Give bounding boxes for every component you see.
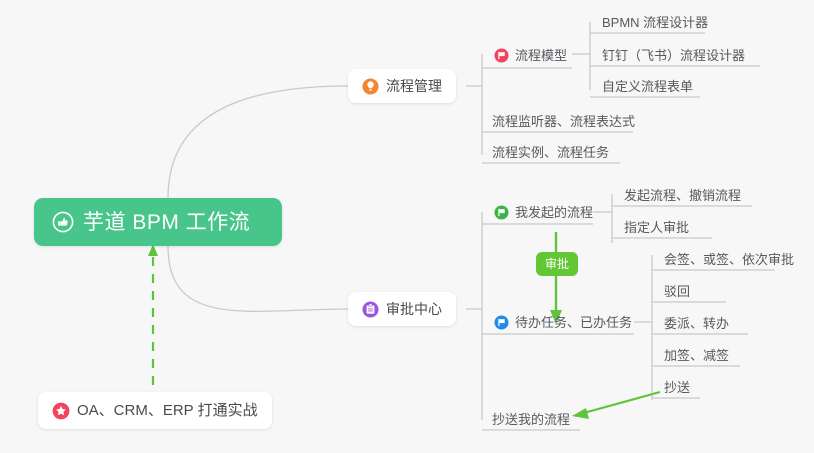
node-label: 指定人审批 [624,221,689,234]
node-process-model[interactable]: 流程模型 [492,42,571,68]
root-label: 芋道 BPM 工作流 [83,212,250,233]
node-todo-done-tasks[interactable]: 待办任务、已办任务 [492,309,636,335]
node-label: 流程监听器、流程表达式 [492,115,635,128]
node-bpmn-designer[interactable]: BPMN 流程设计器 [600,9,712,35]
node-custom-process-form[interactable]: 自定义流程表单 [600,73,697,99]
node-label: 我发起的流程 [515,206,593,219]
node-label: BPMN 流程设计器 [602,16,708,29]
node-label: 钉钉（飞书）流程设计器 [602,49,745,62]
node-reject[interactable]: 驳回 [662,278,694,304]
node-designated-approver[interactable]: 指定人审批 [622,214,693,240]
node-label: 抄送我的流程 [492,413,570,426]
thumbs-up-icon [52,211,74,233]
branch-label: 审批中心 [386,302,442,316]
node-process-instance-task[interactable]: 流程实例、流程任务 [490,139,613,165]
node-label: 流程模型 [515,49,567,62]
footnote-label: OA、CRM、ERP 打通实战 [77,403,258,418]
approval-badge[interactable]: 审批 [536,252,578,276]
footnote-node[interactable]: OA、CRM、ERP 打通实战 [38,392,272,429]
node-dingtalk-feishu-designer[interactable]: 钉钉（飞书）流程设计器 [600,42,749,68]
node-label: 抄送 [664,381,690,394]
clipboard-icon [362,301,379,318]
flag-icon [494,315,509,330]
branch-approval-center[interactable]: 审批中心 [348,292,456,326]
mindmap-canvas: 芋道 BPM 工作流 流程管理 流程模型 BPMN 流程设计器 钉钉（飞书）流程 [0,0,814,453]
node-start-cancel-process[interactable]: 发起流程、撤销流程 [622,182,745,208]
node-add-remove-sign[interactable]: 加签、减签 [662,342,733,368]
node-my-initiated-process[interactable]: 我发起的流程 [492,199,597,225]
flag-icon [494,205,509,220]
node-process-listener-expression[interactable]: 流程监听器、流程表达式 [490,108,639,134]
node-delegate-transfer[interactable]: 委派、转办 [662,310,733,336]
branch-label: 流程管理 [386,79,442,93]
node-label: 委派、转办 [664,317,729,330]
star-icon [52,402,70,420]
node-label: 自定义流程表单 [602,80,693,93]
node-label: 待办任务、已办任务 [515,316,632,329]
node-label: 驳回 [664,285,690,298]
node-label: 流程实例、流程任务 [492,146,609,159]
lightbulb-icon [362,78,379,95]
node-countersign-orsign-sequential[interactable]: 会签、或签、依次审批 [662,246,798,272]
node-label: 发起流程、撤销流程 [624,189,741,202]
node-label: 加签、减签 [664,349,729,362]
root-node[interactable]: 芋道 BPM 工作流 [34,198,282,246]
node-label: 会签、或签、依次审批 [664,253,794,266]
branch-process-management[interactable]: 流程管理 [348,69,456,103]
node-cc[interactable]: 抄送 [662,374,694,400]
node-cc-to-me-process[interactable]: 抄送我的流程 [490,406,574,432]
flag-icon [494,48,509,63]
